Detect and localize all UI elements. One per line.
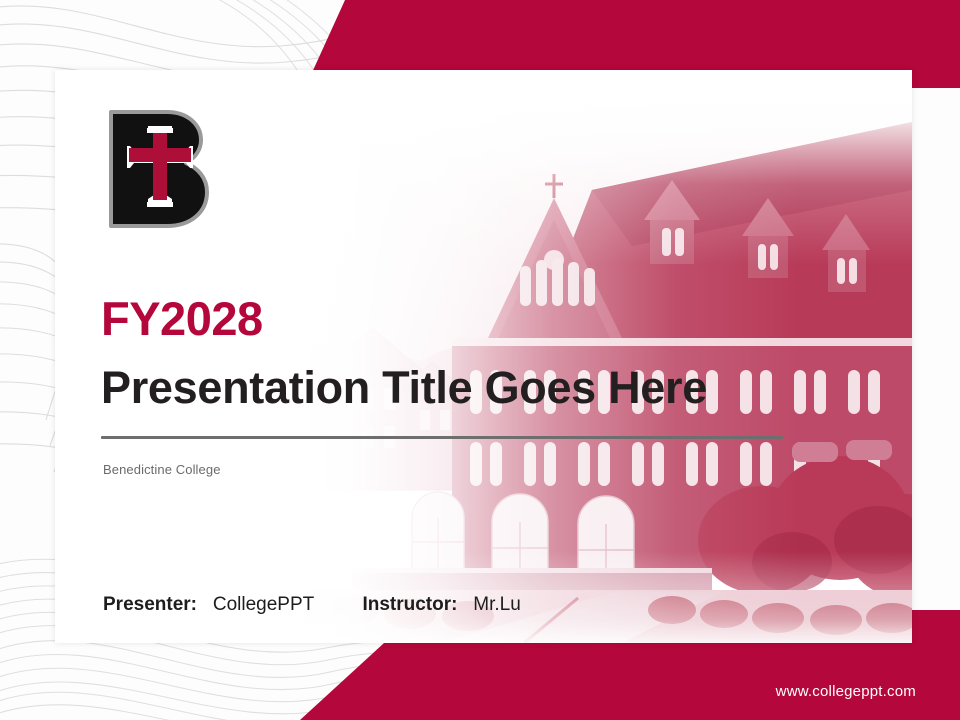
benedictine-college-logo: [103, 108, 215, 230]
fiscal-year-heading: FY2028: [101, 295, 263, 342]
page-title: Presentation Title Goes Here: [101, 365, 707, 410]
presenter-label: Presenter:: [103, 594, 197, 615]
title-divider: [101, 436, 783, 439]
footer-website-url[interactable]: www.collegeppt.com: [776, 683, 916, 700]
presenter-name: CollegePPT: [213, 594, 314, 615]
instructor-label: Instructor:: [362, 594, 457, 615]
presentation-slide: FY2028 Presentation Title Goes Here Bene…: [0, 0, 960, 720]
instructor-name: Mr.Lu: [473, 594, 521, 615]
slide-card: FY2028 Presentation Title Goes Here Bene…: [55, 70, 912, 643]
credits-line: Presenter: CollegePPT Instructor: Mr.Lu: [103, 594, 521, 616]
organization-name: Benedictine College: [103, 462, 221, 477]
